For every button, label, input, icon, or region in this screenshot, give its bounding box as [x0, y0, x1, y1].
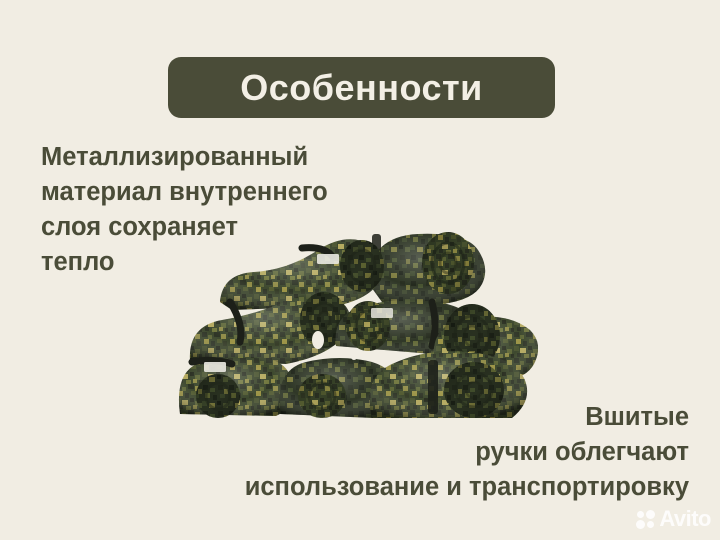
avito-dot-1	[637, 511, 644, 518]
feature-left-line-2: материал внутреннего	[41, 175, 371, 210]
pile-gap-highlight	[312, 331, 324, 349]
blanket-label	[371, 308, 393, 318]
blanket-strap	[432, 302, 435, 346]
avito-dot-2	[646, 510, 655, 519]
avito-watermark: Avito	[636, 506, 711, 532]
feature-text-right: Вшитые ручки облегчают использование и т…	[159, 400, 689, 505]
avito-dot-4	[647, 521, 654, 528]
feature-left-line-4: тепло	[41, 245, 371, 280]
feature-left-line-3: слоя сохраняет	[41, 210, 371, 245]
title-banner: Особенности	[168, 57, 555, 118]
feature-right-line-1: Вшитые	[159, 400, 689, 435]
avito-dot-3	[636, 520, 645, 529]
avito-wordmark: Avito	[659, 508, 711, 530]
feature-right-line-2: ручки облегчают	[159, 435, 689, 470]
feature-text-left: Металлизированный материал внутреннего с…	[41, 140, 371, 280]
blanket-label	[204, 362, 226, 372]
poster-canvas: Особенности	[0, 0, 720, 540]
page-title: Особенности	[240, 70, 483, 106]
pile-gap-highlight	[350, 348, 358, 360]
avito-logo-icon	[636, 510, 655, 529]
feature-right-line-3: использование и транспортировку	[159, 470, 689, 505]
feature-left-line-1: Металлизированный	[41, 140, 371, 175]
